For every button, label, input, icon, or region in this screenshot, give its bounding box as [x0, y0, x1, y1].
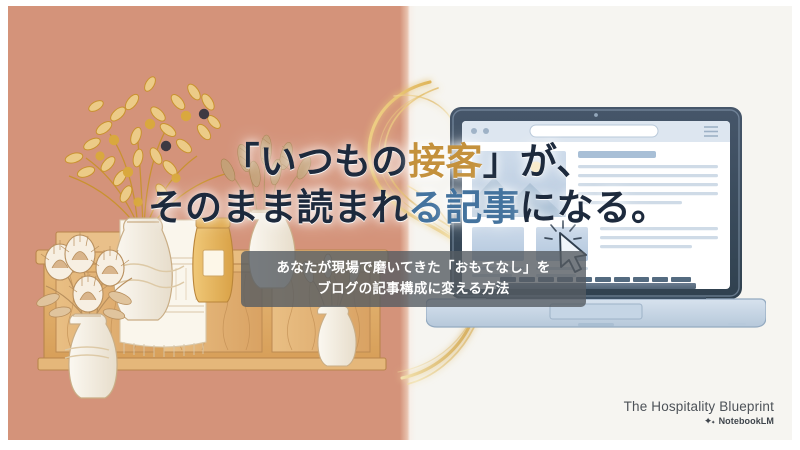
notebooklm-badge: NotebookLM — [624, 416, 774, 426]
headline-l1-seg-2-gold: 接客 — [408, 142, 482, 183]
headline-line-1: 「いつもの接客」が、 — [8, 144, 792, 181]
headline-l2-seg-4: になる。 — [519, 188, 668, 229]
browser-dot — [471, 128, 477, 134]
browser-dot — [483, 128, 489, 134]
brand-title: The Hospitality Blueprint — [624, 399, 774, 414]
headline-l1-seg-1: 「いつもの — [223, 142, 409, 183]
headline-l2-seg-2-blue: る — [408, 188, 445, 229]
headline-l2-seg-1: そのまま読まれ — [148, 188, 408, 229]
browser-chrome — [462, 121, 730, 142]
headline: 「いつもの接客」が、 そのまま読まれる記事になる。 — [8, 144, 792, 227]
headline-l1-seg-3: 」が、 — [483, 142, 594, 183]
headline-line-2: そのまま読まれる記事になる。 — [8, 190, 792, 227]
browser-address-bar — [530, 125, 658, 137]
notebooklm-spark-icon — [705, 417, 716, 426]
protea-vase — [35, 231, 133, 398]
slide-frame: 「いつもの接客」が、 そのまま読まれる記事になる。 あなたが現場で磨いてきた「お… — [8, 6, 792, 440]
headline-l2-seg-3-blue: 記事 — [445, 188, 519, 229]
notebooklm-badge-label: NotebookLM — [719, 416, 774, 426]
slide-canvas: 「いつもの接客」が、 そのまま読まれる記事になる。 あなたが現場で磨いてきた「お… — [0, 0, 800, 450]
subtitle-line-2: ブログの記事構成に変える方法 — [241, 279, 586, 300]
laptop-latch — [578, 323, 614, 326]
honey-jar — [193, 218, 233, 302]
branding: The Hospitality Blueprint NotebookLM — [624, 399, 774, 426]
subtitle-banner: あなたが現場で磨いてきた「おもてなし」を ブログの記事構成に変える方法 — [241, 251, 586, 307]
webcam-icon — [594, 113, 598, 117]
subtitle-line-1: あなたが現場で磨いてきた「おもてなし」を — [241, 258, 586, 279]
